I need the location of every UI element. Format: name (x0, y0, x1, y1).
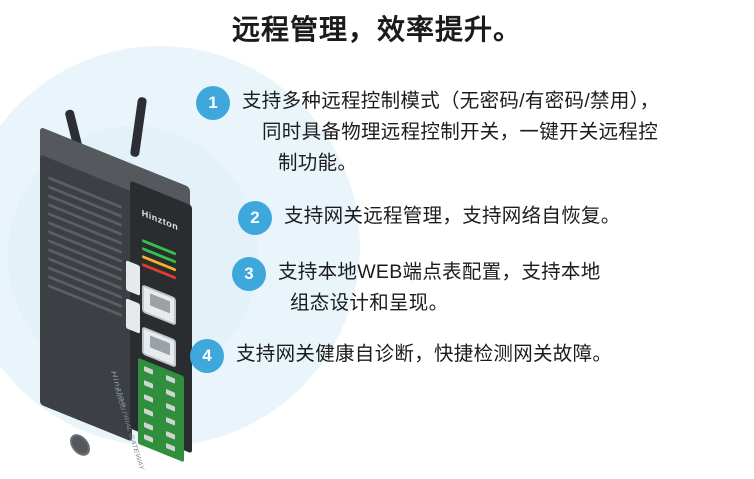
feature-number-badge: 1 (196, 86, 230, 120)
connector-block-top (126, 260, 140, 296)
feature-text-1: 支持多种远程控制模式（无密码/有密码/禁用）， 同时具备物理远程控制开关，一键开… (242, 86, 660, 179)
feature-text-4-line-1: 支持网关健康自诊断，快捷检测网关故障。 (236, 343, 612, 365)
feature-text-3-line-2: 组态设计和呈现。 (290, 288, 601, 319)
feature-item-1: 1 支持多种远程控制模式（无密码/有密码/禁用）， 同时具备物理远程控制开关，一… (196, 86, 744, 179)
feature-text-2: 支持网关远程管理，支持网络自恢复。 (284, 201, 621, 232)
feature-text-4: 支持网关健康自诊断，快捷检测网关故障。 (236, 339, 612, 370)
antenna-right-icon (130, 97, 147, 158)
feature-text-2-line-1: 支持网关远程管理，支持网络自恢复。 (284, 205, 621, 227)
feature-number-badge: 4 (190, 339, 224, 373)
feature-text-3: 支持本地WEB端点表配置，支持本地 组态设计和呈现。 (278, 257, 601, 319)
page-title: 远程管理，效率提升。 (0, 8, 754, 48)
connector-block-bottom (126, 298, 140, 334)
green-terminal-block (138, 358, 184, 463)
feature-item-3: 3 支持本地WEB端点表配置，支持本地 组态设计和呈现。 (232, 257, 744, 319)
feature-text-3-line-1: 支持本地WEB端点表配置，支持本地 (278, 261, 601, 283)
device-knob (70, 431, 90, 459)
feature-text-1-line-3: 制功能。 (278, 148, 660, 179)
feature-item-2: 2 支持网关远程管理，支持网络自恢复。 (238, 201, 744, 235)
feature-number-badge: 3 (232, 257, 266, 291)
feature-text-1-line-2: 同时具备物理远程控制开关，一键开关远程控 (262, 117, 660, 148)
feature-text-1-line-1: 支持多种远程控制模式（无密码/有密码/禁用）， (242, 90, 660, 112)
feature-item-4: 4 支持网关健康自诊断，快捷检测网关故障。 (190, 339, 744, 373)
promo-banner: 远程管理，效率提升。 Hinzton (0, 0, 754, 479)
feature-number-badge: 2 (238, 201, 272, 235)
feature-list: 1 支持多种远程控制模式（无密码/有密码/禁用）， 同时具备物理远程控制开关，一… (196, 80, 744, 389)
